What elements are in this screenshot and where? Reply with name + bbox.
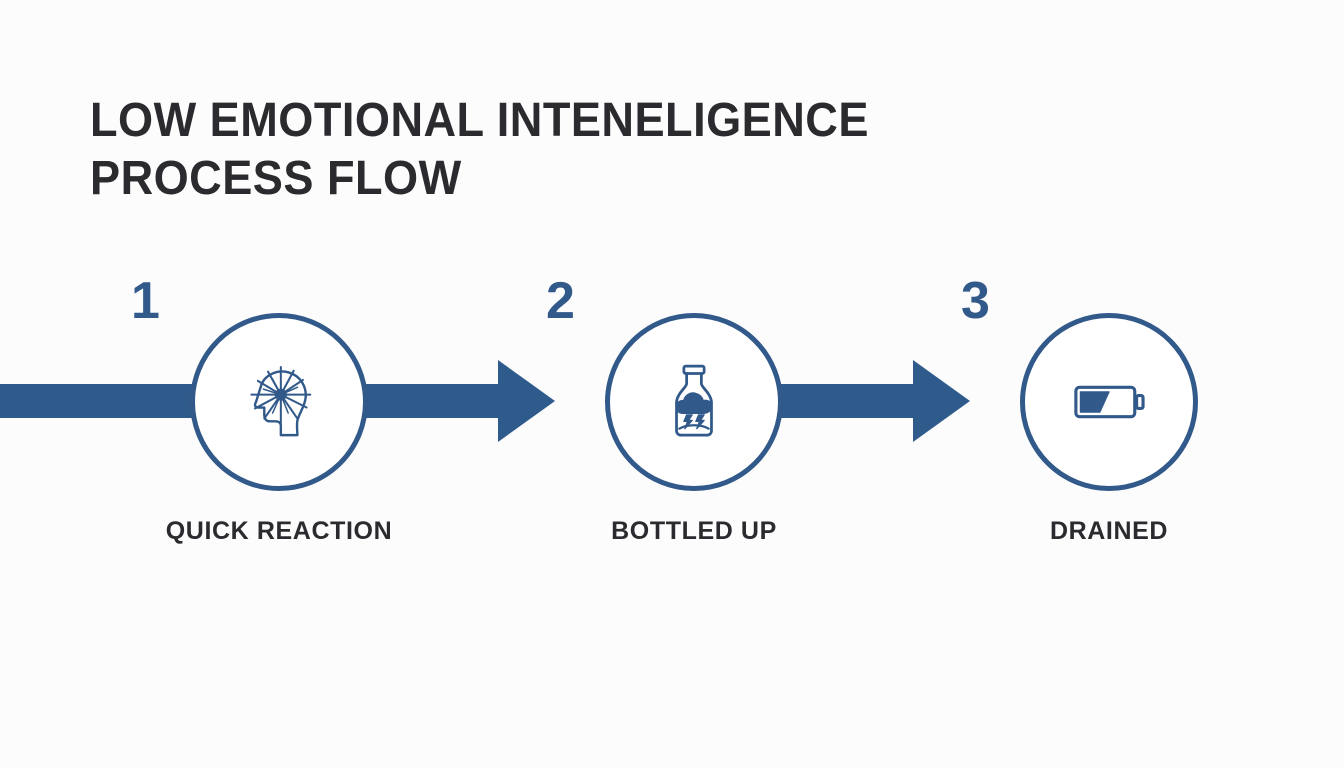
inbound-arrow xyxy=(0,384,195,418)
step-label-2: BOTTLED UP xyxy=(564,517,824,546)
step-number-2: 2 xyxy=(546,275,575,327)
low-battery-icon xyxy=(1063,356,1155,448)
arrow-2-to-3 xyxy=(770,360,970,442)
step-circle-3[interactable] xyxy=(1020,313,1198,491)
step-number-3: 3 xyxy=(961,275,990,327)
head-explosion-icon xyxy=(233,356,325,448)
arrow-1-to-2 xyxy=(355,360,555,442)
infographic-canvas: LOW EMOTIONAL INTENELIGENCE PROCESS FLOW… xyxy=(0,0,1344,768)
title-line-1: LOW EMOTIONAL INTENELIGENCE xyxy=(90,92,936,150)
step-circle-2[interactable] xyxy=(605,313,783,491)
page-title: LOW EMOTIONAL INTENELIGENCE PROCESS FLOW xyxy=(90,92,990,208)
title-line-2: PROCESS FLOW xyxy=(90,150,936,208)
step-number-1: 1 xyxy=(131,275,160,327)
bottle-storm-icon xyxy=(648,356,740,448)
step-label-1: QUICK REACTION xyxy=(149,517,409,546)
step-circle-1[interactable] xyxy=(190,313,368,491)
step-label-3: DRAINED xyxy=(979,517,1239,546)
